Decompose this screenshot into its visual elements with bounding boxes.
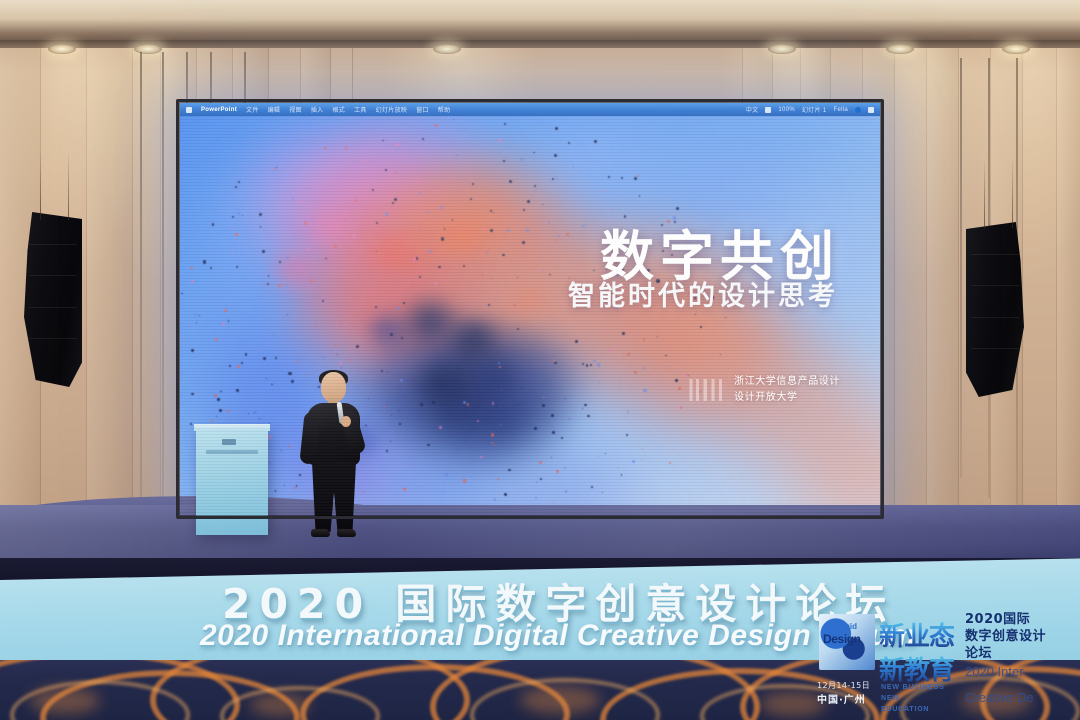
powder-speck [235,186,237,188]
powder-speck [520,158,523,161]
powder-speck [427,444,429,446]
powder-speck [395,143,398,146]
powder-speck [639,195,641,197]
powder-speck [665,355,666,356]
powder-speck [450,298,453,301]
powder-speck [642,448,644,450]
app-name-label: PowerPoint [201,107,237,113]
powder-speck [268,275,270,277]
slide-credit-text: 浙江大学信息产品设计 设计开放大学 [734,374,840,405]
powder-speck [392,202,394,204]
powder-speck [456,154,458,156]
powder-speck [403,488,406,491]
powder-speck [229,365,231,367]
powder-speck [497,405,499,407]
conference-stage-scene: PowerPoint 文件 编辑 视图 插入 格式 工具 幻灯片放映 窗口 帮助… [0,0,1080,720]
powder-speck [477,420,479,422]
powder-speck [641,459,642,460]
powder-speck [254,412,255,413]
powder-speck [181,321,182,322]
powder-speck [352,234,355,237]
powder-speck [216,416,217,417]
powder-speck [417,181,420,184]
powder-speck [594,140,597,143]
powder-speck [415,154,416,155]
powder-speck [350,349,351,350]
powder-speck [322,356,325,359]
podium-caption-bar [206,450,258,454]
ceiling-spotlight [768,44,796,54]
powder-speck [267,283,269,285]
powder-speck [390,333,393,336]
powder-speck [344,323,346,325]
powder-speck [514,140,515,141]
presenter-shoe-right [337,529,356,537]
powder-speck [286,284,288,286]
powder-speck [286,257,289,260]
powder-speck [385,169,387,171]
powder-speck [500,424,502,426]
powder-speck [220,391,221,392]
powder-speck [532,191,534,193]
powder-speck [542,404,545,407]
powerpoint-menu-bar[interactable]: PowerPoint 文件 编辑 视图 插入 格式 工具 幻灯片放映 窗口 帮助… [180,103,880,116]
podium-emblem-icon [222,439,236,445]
slogan-english-3: EDUCATION [881,706,929,713]
powder-speck [190,423,192,425]
powder-speck [345,147,348,150]
powder-speck [434,282,437,285]
speaker-wire-right [984,158,985,228]
powder-speck [279,261,281,263]
powder-speck [445,473,448,476]
presenter [295,372,373,538]
powder-speck [643,367,645,369]
powder-speck [488,304,490,306]
slide-subtitle: 智能时代的设计思考 [568,274,838,313]
search-icon[interactable] [855,107,861,113]
powder-speck [517,328,519,330]
powder-speck [284,485,285,486]
forum-slogan-block: 新业态 新教育 NEW BUSINESS NEW EDUCATION [879,602,967,714]
ceiling-spotlight [48,44,76,54]
powder-speck [587,415,590,418]
powder-speck [556,177,558,179]
powder-speck [486,252,488,254]
powder-speck [463,265,465,267]
stage-platform-sheen [0,505,1080,561]
status-user-name[interactable]: Fella [833,107,848,113]
powder-speck [480,456,483,459]
powder-speck [504,123,507,126]
slogan-english-2: NEW [881,695,900,702]
powder-speck [546,302,547,303]
powder-speck [502,407,503,408]
powder-speck [561,437,563,439]
powder-speck [502,254,505,257]
presenter-shoe-left [311,529,330,537]
speaker-wire-right-2 [1012,158,1013,228]
panel-english-2: Creative De [965,690,1034,705]
powder-speck [556,239,558,241]
powder-speck [605,453,606,454]
menu-item-insert[interactable]: 插入 [311,105,324,114]
powder-speck [401,337,403,339]
powder-speck [670,366,671,367]
status-slide-number[interactable]: 幻灯片 1 [802,105,827,114]
carpet-motif [520,686,600,714]
powder-speck [626,434,628,436]
powder-speck [191,349,194,352]
powder-speck [720,354,721,355]
powder-speck [399,423,401,425]
powder-speck [548,222,550,224]
menu-item-file[interactable]: 文件 [246,105,259,114]
powder-speck [304,222,307,225]
powder-speck [403,302,405,304]
ceiling-hanging-rod [162,52,164,542]
powder-speck [608,176,610,178]
powder-speck [263,357,266,360]
ceiling-spotlight [134,44,162,54]
clock-icon[interactable] [868,107,874,113]
powder-puff [300,202,360,252]
powder-puff [466,352,524,402]
powder-speck [622,332,624,334]
forum-name-panel: 2020国际 数字创意设计 论坛 2020 Inter Creative De [965,598,1080,716]
powder-speck [488,249,490,251]
powder-speck [558,235,560,237]
powder-speck [582,408,583,409]
powder-speck [212,392,213,393]
carpet-motif [30,688,100,714]
menu-item-window[interactable]: 窗口 [416,105,429,114]
powder-puff [430,212,496,264]
slogan-line-1: 新业态 [879,616,954,653]
led-presentation-screen[interactable]: PowerPoint 文件 编辑 视图 插入 格式 工具 幻灯片放映 窗口 帮助… [180,103,880,515]
powder-speck [591,486,593,488]
powder-puff [498,276,560,326]
powder-speck [444,491,445,492]
powder-speck [349,359,351,361]
powder-speck [245,353,248,356]
powder-speck [288,372,291,375]
menu-item-tools[interactable]: 工具 [354,105,367,114]
powder-speck [504,493,507,496]
powder-speck [503,160,505,162]
powder-speck [271,384,273,386]
banner-title-english: 2020 International Digital Creative Desi… [200,619,916,653]
powder-speck [497,478,499,480]
slogan-english-1: NEW BUSINESS [881,684,945,691]
forum-date-label: 12月14-15日 [817,680,870,691]
menu-item-view[interactable]: 视图 [289,105,302,114]
status-zoom-level[interactable]: 100% [778,107,795,113]
powder-speck [337,354,338,355]
powder-speck [278,284,281,287]
zju-idp-logo-icon [687,379,725,401]
powder-speck [335,343,338,346]
powder-speck [582,225,585,228]
ceiling [0,0,1080,42]
powder-speck [428,211,429,212]
menu-item-edit[interactable]: 编辑 [268,105,281,114]
powder-speck [612,208,614,210]
powder-speck [462,197,463,198]
powder-speck [242,215,243,216]
presenter-legs [312,462,356,532]
credit-line-2: 设计开放大学 [734,390,840,406]
powder-speck [275,490,277,492]
presenter-hand [341,416,351,427]
podium-top-surface [194,424,270,431]
powder-speck [526,229,529,232]
powder-speck [566,233,569,236]
ceiling-hanging-rod [140,52,142,552]
powder-speck [372,189,374,191]
powder-speck [509,180,512,183]
powder-speck [191,393,194,396]
powder-speck [678,387,681,390]
powder-speck [490,210,492,212]
status-input-language[interactable]: 中文 [746,105,759,114]
powder-speck [609,424,610,425]
powder-speck [315,326,317,328]
forum-key-visual: gid Design 12月14-15日 中国·广州 新业态 新教育 NEW B… [815,592,1080,720]
slide-canvas: 数字共创 智能时代的设计思考 浙江大学信息产品设计 设计开放大学 [180,116,880,515]
battery-icon[interactable] [765,107,771,113]
powder-speck [432,401,435,404]
powder-puff [360,226,430,282]
powder-speck [422,138,424,140]
powder-speck [227,410,230,413]
panel-english-1: 2020 Inter [965,664,1024,679]
powder-puff [360,306,416,354]
powder-speck [199,315,200,316]
powder-speck [599,381,601,383]
ceiling-spotlight [1002,44,1030,54]
powder-speck [543,270,545,272]
slogan-line-2: 新教育 [879,650,954,687]
ceiling-hanging-rod [960,58,962,478]
ceiling-edge [0,40,1080,48]
powder-speck [551,414,554,417]
powder-speck [491,442,493,444]
powder-speck [380,418,381,419]
powder-speck [419,192,421,194]
powder-speck [648,375,649,376]
powder-speck [498,139,501,142]
speaker-wire-left-2 [68,150,69,220]
powder-speck [214,394,216,396]
powder-speck [508,469,510,471]
powder-speck [556,470,559,473]
powder-speck [440,206,443,209]
gid-logo-superscript: gid [845,622,857,631]
powder-speck [190,267,192,269]
powder-speck [552,431,555,434]
powder-speck [499,366,501,368]
powder-speck [191,280,194,283]
powder-speck [643,389,646,392]
powder-speck [584,404,586,406]
forum-location-label: 中国·广州 [817,691,866,706]
powder-speck [394,198,397,201]
powder-speck [259,418,260,419]
powder-speck [362,159,365,162]
powder-speck [181,293,182,294]
menu-item-format[interactable]: 格式 [332,105,345,114]
powder-speck [203,260,206,263]
powder-speck [384,406,386,408]
powder-speck [416,257,419,260]
powder-speck [438,266,441,269]
powder-speck [439,426,442,429]
speaker-wire-left [40,150,41,220]
powder-speck [217,398,220,401]
powder-speck [542,204,543,205]
menu-item-slideshow[interactable]: 幻灯片放映 [376,105,408,114]
powder-speck [564,467,566,469]
powder-speck [575,340,578,343]
line-array-speaker-right [966,222,1024,397]
powder-speck [211,420,213,422]
panel-chinese-3: 论坛 [965,642,992,661]
powder-speck [463,401,466,404]
powder-speck [386,450,388,452]
powder-speck [669,462,671,464]
gid-logo-wordmark: Design [823,632,861,646]
powder-speck [266,378,267,379]
ceiling-spotlight [433,44,461,54]
ceiling-spotlight [886,44,914,54]
powder-speck [275,357,277,359]
powder-speck [621,177,623,179]
powder-speck [453,118,455,120]
powder-speck [355,199,358,202]
powder-speck [621,474,622,475]
powder-speck [593,360,595,362]
menu-item-help[interactable]: 帮助 [438,105,451,114]
apple-menu-icon[interactable] [186,107,192,113]
menu-bar-status-area[interactable]: 中文 100% 幻灯片 1 Fella [746,105,874,114]
slide-credit-block: 浙江大学信息产品设计 设计开放大学 [687,374,840,405]
powder-speck [391,415,392,416]
powder-speck [199,396,200,397]
powder-speck [400,379,402,381]
powder-speck [523,209,525,211]
powder-speck [340,321,342,323]
line-array-speaker-left [24,212,82,387]
powder-speck [582,363,584,365]
powder-speck [676,207,679,210]
carpet-motif [250,694,310,716]
powder-speck [441,237,444,240]
powder-speck [222,323,225,326]
credit-line-1: 浙江大学信息产品设计 [734,374,840,390]
powder-speck [533,125,534,126]
powder-speck [268,435,271,438]
powder-speck [318,260,319,261]
powder-speck [262,250,265,253]
powder-puff [266,246,324,294]
powder-speck [492,402,495,405]
